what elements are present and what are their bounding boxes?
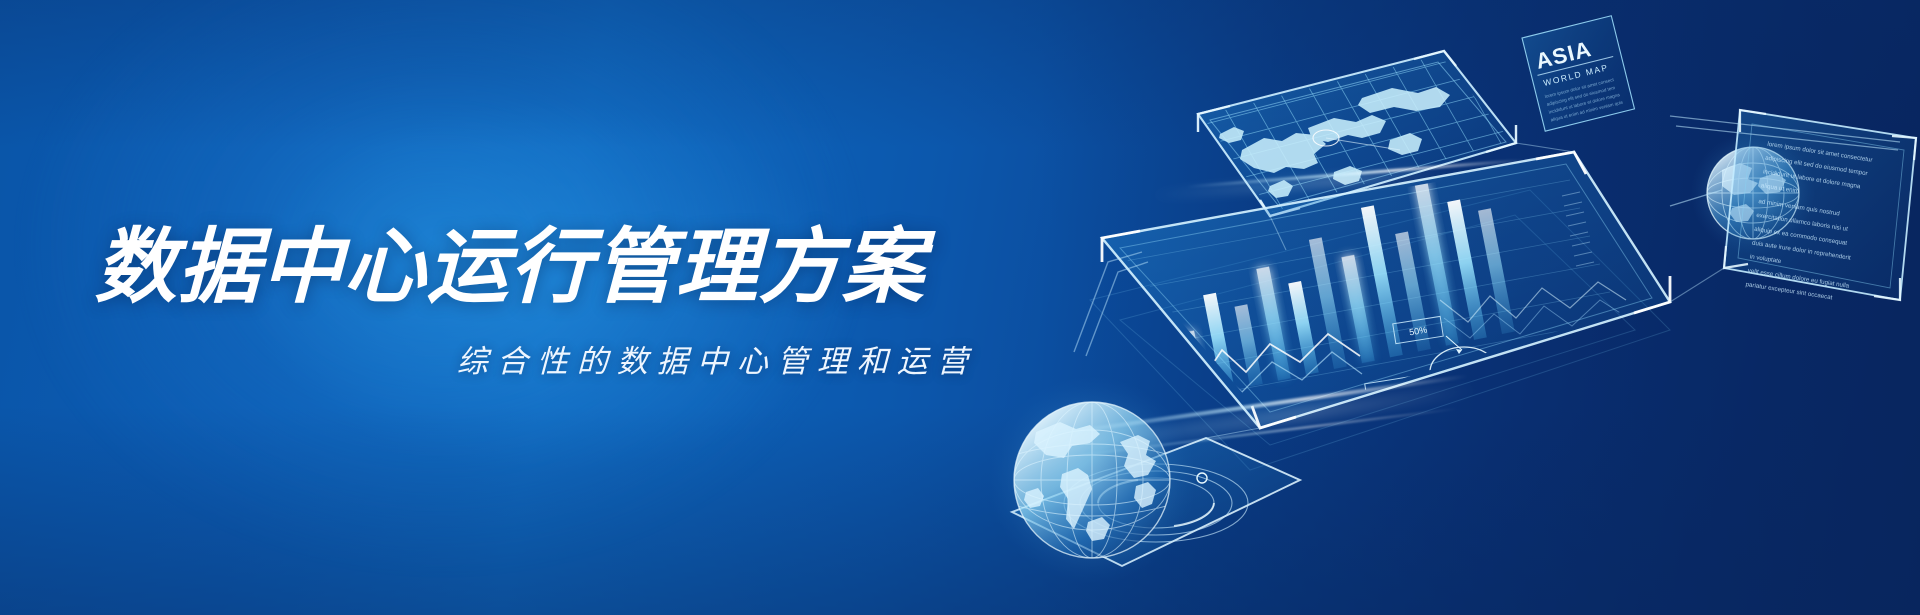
asia-label-card: ASIA WORLD MAP lorem ipsum dolor sit ame…	[1522, 16, 1634, 131]
globe-icon-large	[988, 376, 1196, 584]
hud-illustration: ASIA WORLD MAP lorem ipsum dolor sit ame…	[970, 0, 1920, 615]
callout-right-value: 350%	[1537, 355, 1563, 370]
bar	[1157, 354, 1179, 404]
banner-title: 数据中心运行管理方案	[94, 225, 1095, 310]
banner-text-block: 数据中心运行管理方案 综合性的数据中心管理和运营	[95, 225, 1095, 381]
callout-bottom-value: 25%	[1452, 417, 1473, 431]
dashboard-panel: 3425% 50% 150%	[1102, 152, 1670, 438]
callout-bottom: 25%	[1435, 394, 1490, 438]
banner-subtitle: 综合性的数据中心管理和运营	[95, 336, 1096, 381]
hero-banner: ASIA WORLD MAP lorem ipsum dolor sit ame…	[0, 0, 1920, 615]
